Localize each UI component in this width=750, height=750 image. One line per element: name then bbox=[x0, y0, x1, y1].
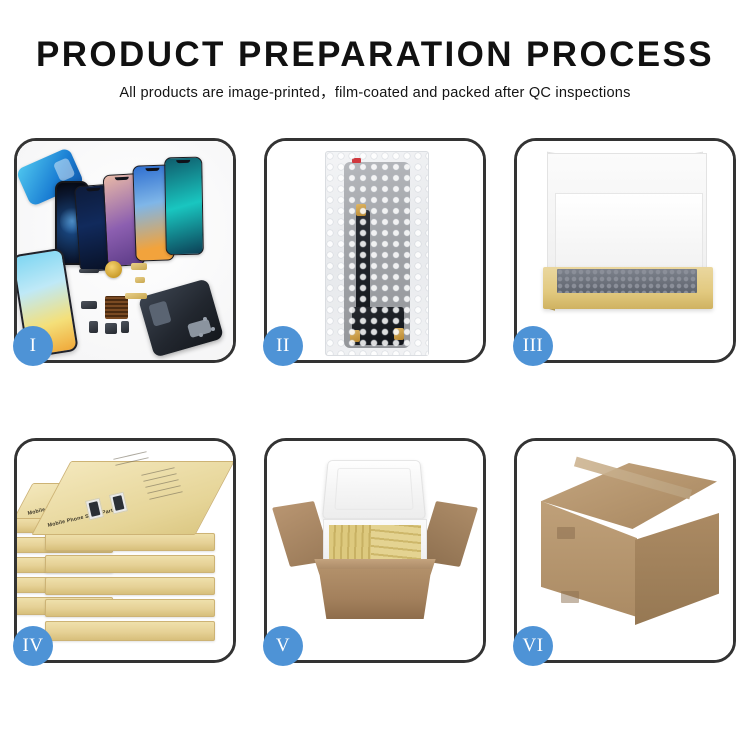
step-2-image bbox=[267, 141, 483, 360]
bubble-wrapped-contents-icon bbox=[557, 269, 697, 293]
component-chip-icon bbox=[79, 269, 99, 273]
component-chip-icon bbox=[89, 321, 98, 333]
stacked-retail-boxes-photo: Mobile Phone Spare Parts Mobile Phone Sp… bbox=[17, 441, 233, 660]
kraft-box-icon bbox=[45, 555, 215, 573]
kraft-box-icon bbox=[45, 599, 215, 617]
carton-seam-icon bbox=[557, 527, 575, 539]
product-preparation-process-infographic: PRODUCT PREPARATION PROCESS All products… bbox=[0, 0, 750, 750]
step-badge-6: VI bbox=[513, 626, 553, 666]
step-5-image bbox=[267, 441, 483, 660]
kraft-box-icon bbox=[45, 621, 215, 641]
step-badge-4: IV bbox=[13, 626, 53, 666]
carton-body-icon bbox=[311, 569, 439, 619]
page-title: PRODUCT PREPARATION PROCESS bbox=[0, 34, 750, 76]
process-step-panel-6: VI bbox=[514, 438, 736, 663]
process-step-panel-3: III bbox=[514, 138, 736, 363]
flex-cable-icon bbox=[131, 263, 147, 270]
open-tray-box-photo bbox=[517, 141, 733, 360]
component-chip-icon bbox=[121, 321, 129, 333]
bubble-texture bbox=[326, 152, 428, 355]
process-steps-grid: I II bbox=[14, 138, 736, 663]
carton-seam-icon bbox=[561, 591, 579, 603]
notch-icon bbox=[86, 188, 100, 192]
phone-display-4-icon bbox=[164, 157, 204, 256]
bubble-wrapped-screen-photo bbox=[267, 141, 483, 360]
component-chip-icon bbox=[105, 323, 117, 334]
step-4-image: Mobile Phone Spare Parts Mobile Phone Sp… bbox=[17, 441, 233, 660]
speaker-coil-icon bbox=[105, 261, 122, 278]
notch-icon bbox=[145, 168, 159, 171]
connector-grid-icon bbox=[105, 296, 128, 319]
carton-with-foam-photo bbox=[267, 441, 483, 660]
page-subtitle: All products are image-printed，film-coat… bbox=[0, 83, 750, 103]
flex-cable-icon bbox=[125, 293, 147, 299]
step-badge-2: II bbox=[263, 326, 303, 366]
screw-icon bbox=[199, 333, 203, 337]
step-3-image bbox=[517, 141, 733, 360]
process-step-panel-4: Mobile Phone Spare Parts Mobile Phone Sp… bbox=[14, 438, 236, 663]
step-1-image bbox=[17, 141, 233, 360]
component-chip-icon bbox=[81, 301, 97, 309]
screw-icon bbox=[211, 327, 215, 331]
screw-icon bbox=[203, 317, 207, 321]
process-step-panel-2: II bbox=[264, 138, 486, 363]
kraft-box-icon bbox=[45, 533, 215, 551]
carton-side-face-icon bbox=[635, 513, 719, 625]
phone-parts-photo bbox=[17, 141, 233, 360]
process-step-panel-1: I bbox=[14, 138, 236, 363]
step-badge-5: V bbox=[263, 626, 303, 666]
bubble-wrap-bag bbox=[325, 151, 429, 356]
step-6-image bbox=[517, 441, 733, 660]
header: PRODUCT PREPARATION PROCESS All products… bbox=[0, 34, 750, 103]
notch-icon bbox=[115, 177, 129, 181]
step-badge-1: I bbox=[13, 326, 53, 366]
process-step-panel-5: V bbox=[264, 438, 486, 663]
sealed-carton-photo bbox=[517, 441, 733, 660]
step-badge-3: III bbox=[513, 326, 553, 366]
kraft-box-icon bbox=[45, 577, 215, 595]
notch-icon bbox=[176, 160, 190, 163]
packed-kraft-boxes-icon bbox=[371, 525, 421, 561]
foam-sheet-icon bbox=[555, 193, 703, 271]
foam-lid-icon bbox=[322, 460, 426, 519]
flex-cable-icon bbox=[135, 277, 145, 283]
